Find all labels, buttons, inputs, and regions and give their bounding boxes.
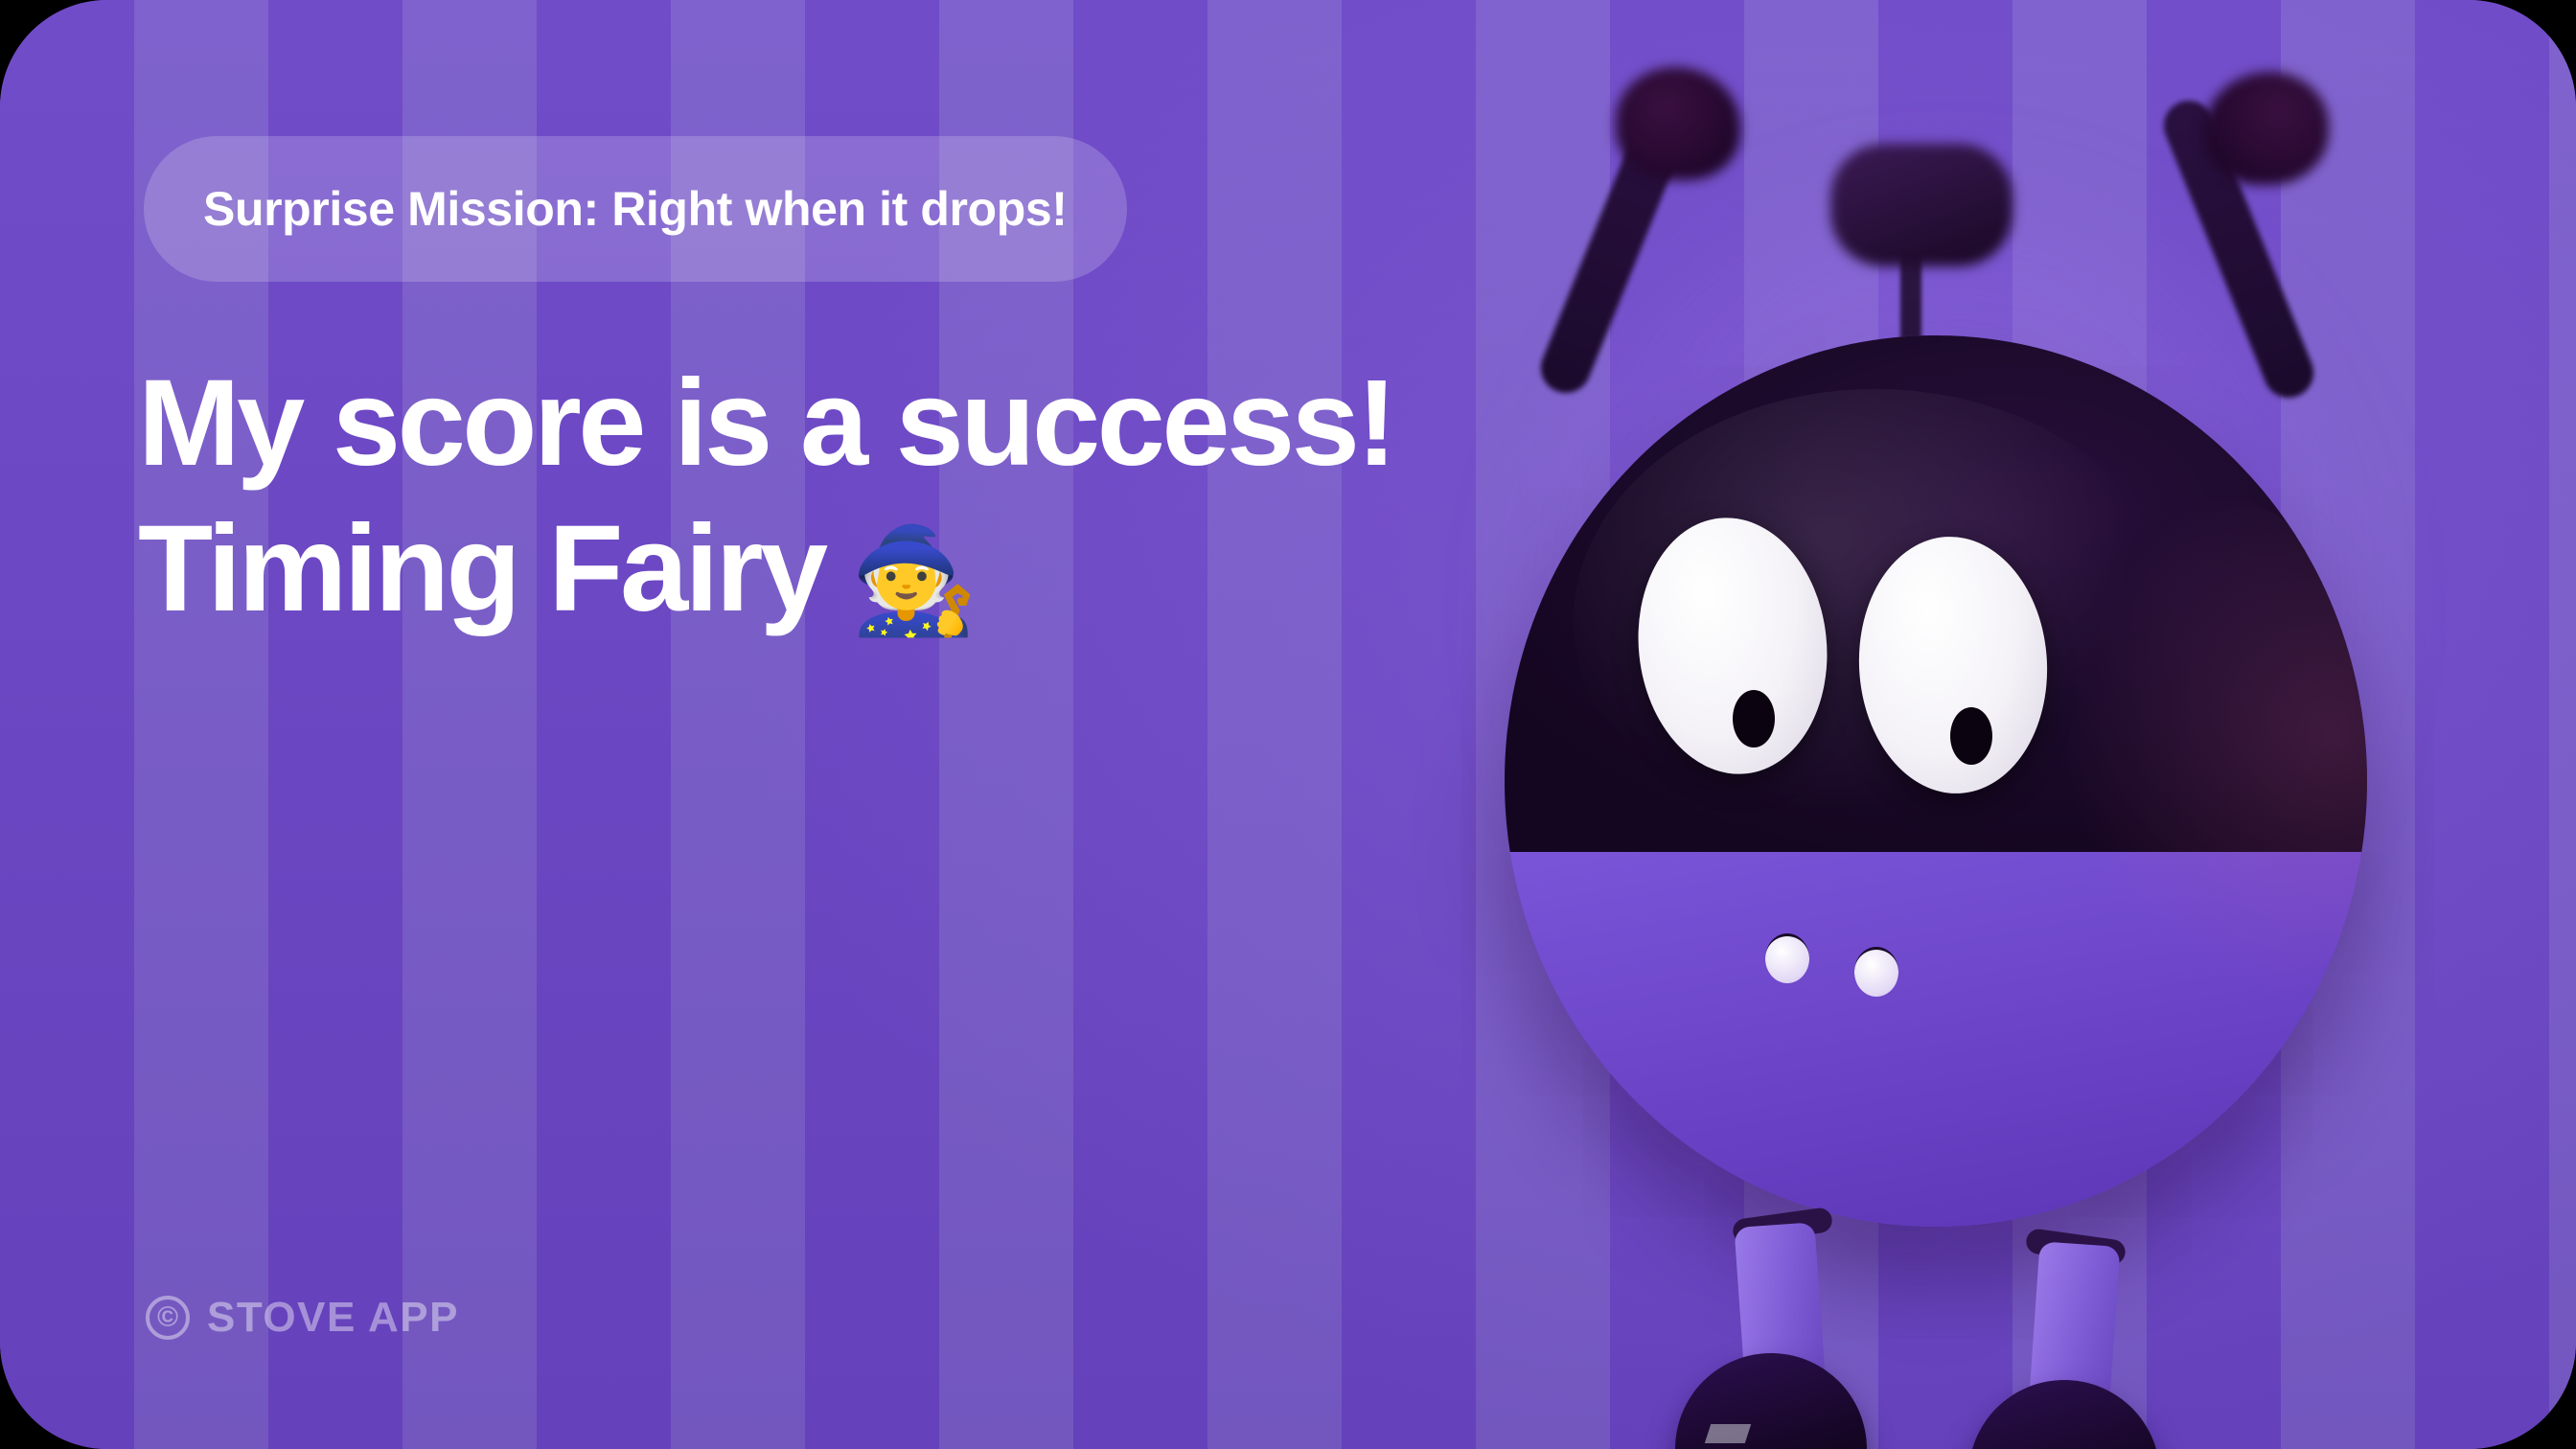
mascot-illustration [1447,57,2453,1399]
mascot-left-shoe-highlight [1705,1424,1751,1443]
headline-line-1: My score is a success! [138,362,1633,485]
mission-badge-label: Surprise Mission: Right when it drops! [203,181,1068,237]
footer-brand: © STOVE APP [146,1294,459,1342]
mascot-right-pupil [1950,707,1992,765]
content-column: Surprise Mission: Right when it drops! M… [144,0,1581,1449]
mascot-belly-button-2 [1854,947,1898,997]
copyright-icon: © [146,1296,190,1340]
mission-badge: Surprise Mission: Right when it drops! [144,136,1127,282]
mage-icon: 🧙 [850,522,978,638]
page-title: My score is a success! Timing Fairy🧙 [138,362,1633,632]
brand-label: STOVE APP [207,1294,459,1342]
mascot-left-hand [1616,67,1740,180]
mascot-body-rimlight [2039,495,2367,1030]
mascot-antenna-tip [1830,144,2012,266]
headline-line-2-text: Timing Fairy [138,500,825,637]
mascot-left-pupil [1733,690,1775,747]
mascot-left-shoe [1675,1353,1867,1449]
mascot-belly-button-1 [1765,933,1809,983]
mascot-right-hand [2204,72,2329,185]
headline-line-2: Timing Fairy🧙 [138,508,1633,632]
promo-card: Surprise Mission: Right when it drops! M… [0,0,2576,1449]
mascot-right-shoe [1968,1380,2160,1449]
